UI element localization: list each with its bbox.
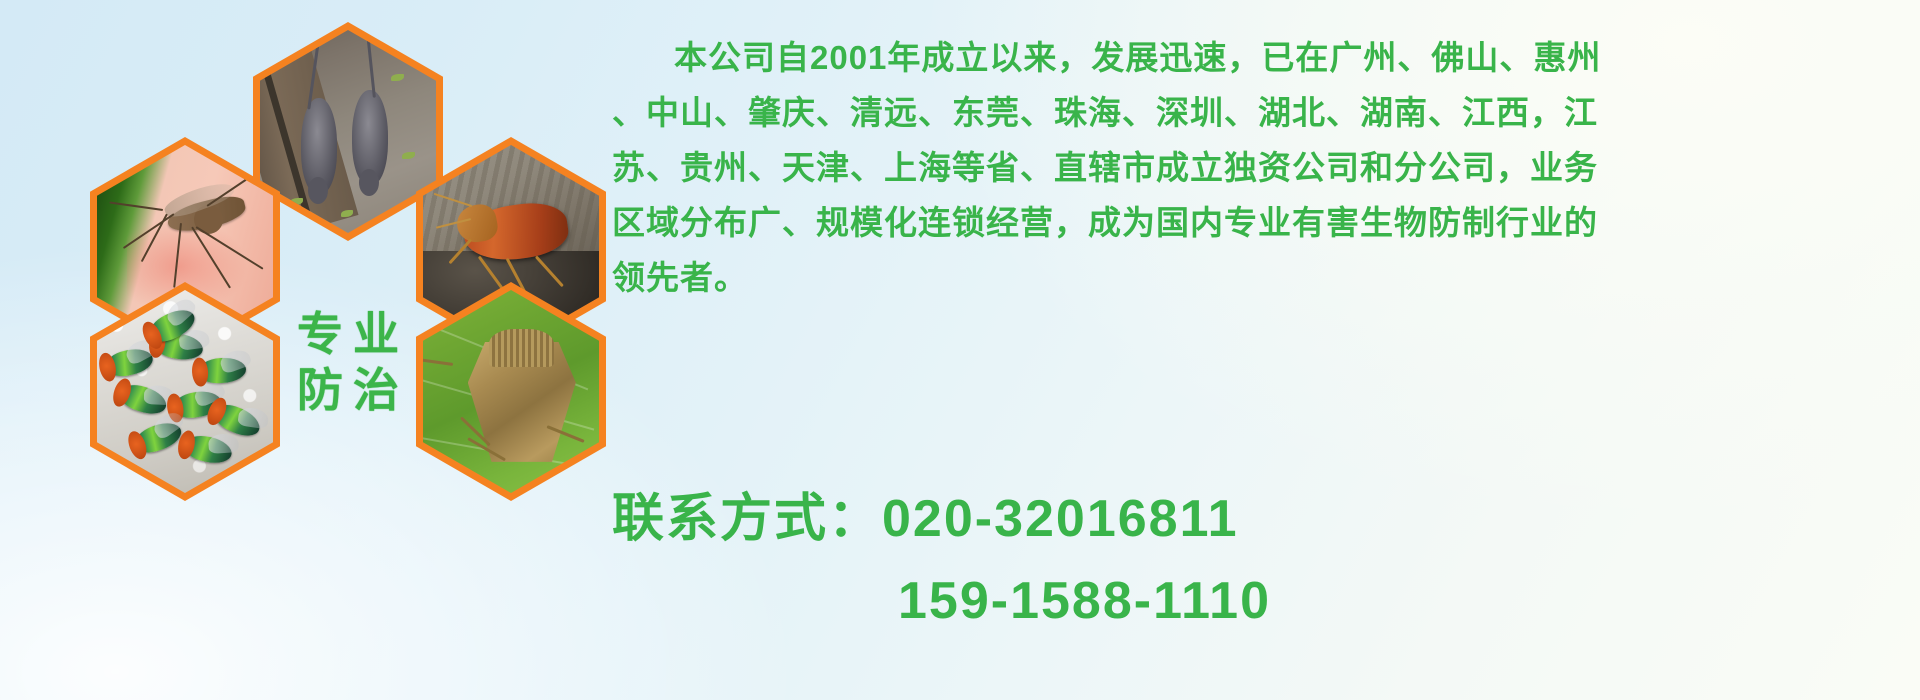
contact-phone-landline[interactable]: 联系方式：020-32016811 [612, 478, 1908, 560]
contact-information: 联系方式：020-32016811 159-1588-1110 [612, 478, 1908, 642]
description-line-3: 苏、贵州、天津、上海等省、直辖市成立独资公司和分公司，业务 [612, 140, 1908, 195]
hex-tile-rats-image [260, 30, 436, 233]
hex-photo-cluster: 专业 防治 [78, 6, 598, 566]
description-line-1: 本公司自2001年成立以来，发展迅速，已在广州、佛山、惠州 [612, 30, 1908, 85]
description-line-5: 领先者。 [612, 250, 1908, 305]
contact-phone-mobile[interactable]: 159-1588-1110 [612, 560, 1908, 642]
hex-tile-stinkbug-image [423, 290, 599, 493]
hex-center-label-line1: 专业 [287, 311, 409, 357]
description-line-2: 、中山、肇庆、清远、东莞、珠海、深圳、湖北、湖南、江西，江 [612, 85, 1908, 140]
pest-control-banner: { "banner": { "background_start_color": … [0, 0, 1920, 700]
hex-tile-rats[interactable] [253, 22, 443, 241]
company-description: 本公司自2001年成立以来，发展迅速，已在广州、佛山、惠州 、中山、肇庆、清远、… [612, 30, 1908, 305]
hex-center-label-line2: 防治 [287, 367, 409, 413]
hex-tile-center-label: 专业 防治 [253, 252, 443, 471]
hex-tile-flies-image [97, 290, 273, 493]
description-line-4: 区域分布广、规模化连锁经营，成为国内专业有害生物防制行业的 [612, 195, 1908, 250]
